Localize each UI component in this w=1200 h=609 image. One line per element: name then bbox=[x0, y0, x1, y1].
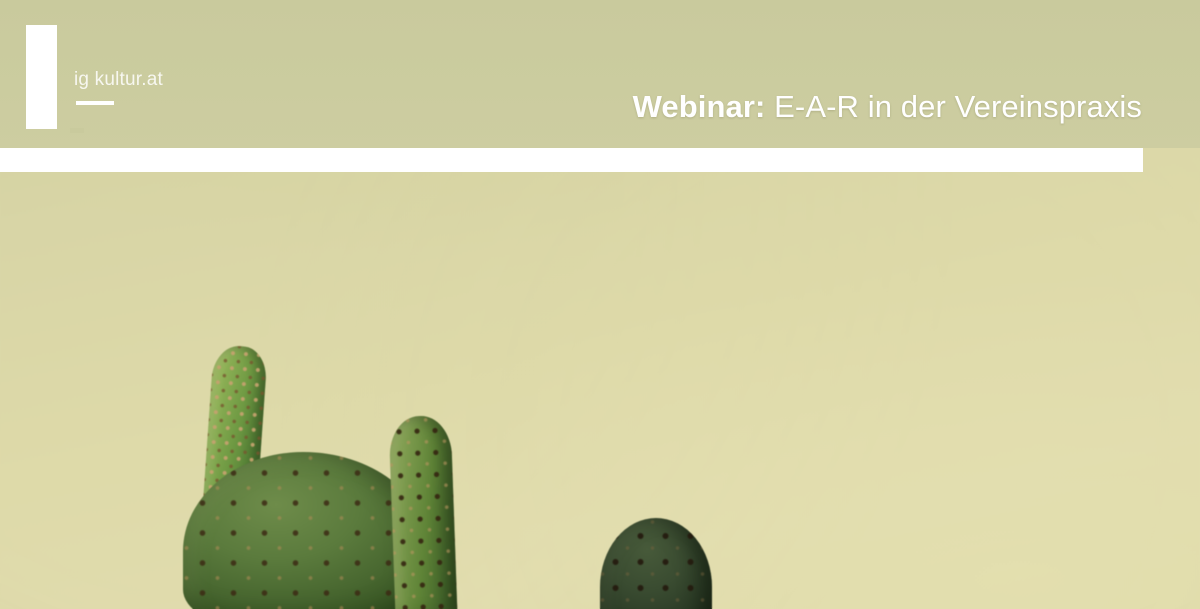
cactus-arm-middle bbox=[389, 415, 458, 609]
header-separator-bar bbox=[0, 148, 1143, 172]
logo-wordmark[interactable]: ig kultur.at bbox=[74, 69, 163, 91]
logo-notch bbox=[70, 128, 84, 133]
logo-underline-rule bbox=[76, 101, 114, 105]
banner-title-lead: Webinar: bbox=[633, 89, 766, 124]
header-band: ig kultur.at Webinar: E-A-R in der Verei… bbox=[0, 0, 1200, 148]
banner-title: Webinar: E-A-R in der Vereinspraxis bbox=[633, 90, 1142, 124]
banner-title-rest: E-A-R in der Vereinspraxis bbox=[774, 89, 1142, 124]
ig-kultur-logo-mark[interactable] bbox=[26, 25, 57, 129]
webinar-banner: ig kultur.at Webinar: E-A-R in der Verei… bbox=[0, 0, 1200, 609]
